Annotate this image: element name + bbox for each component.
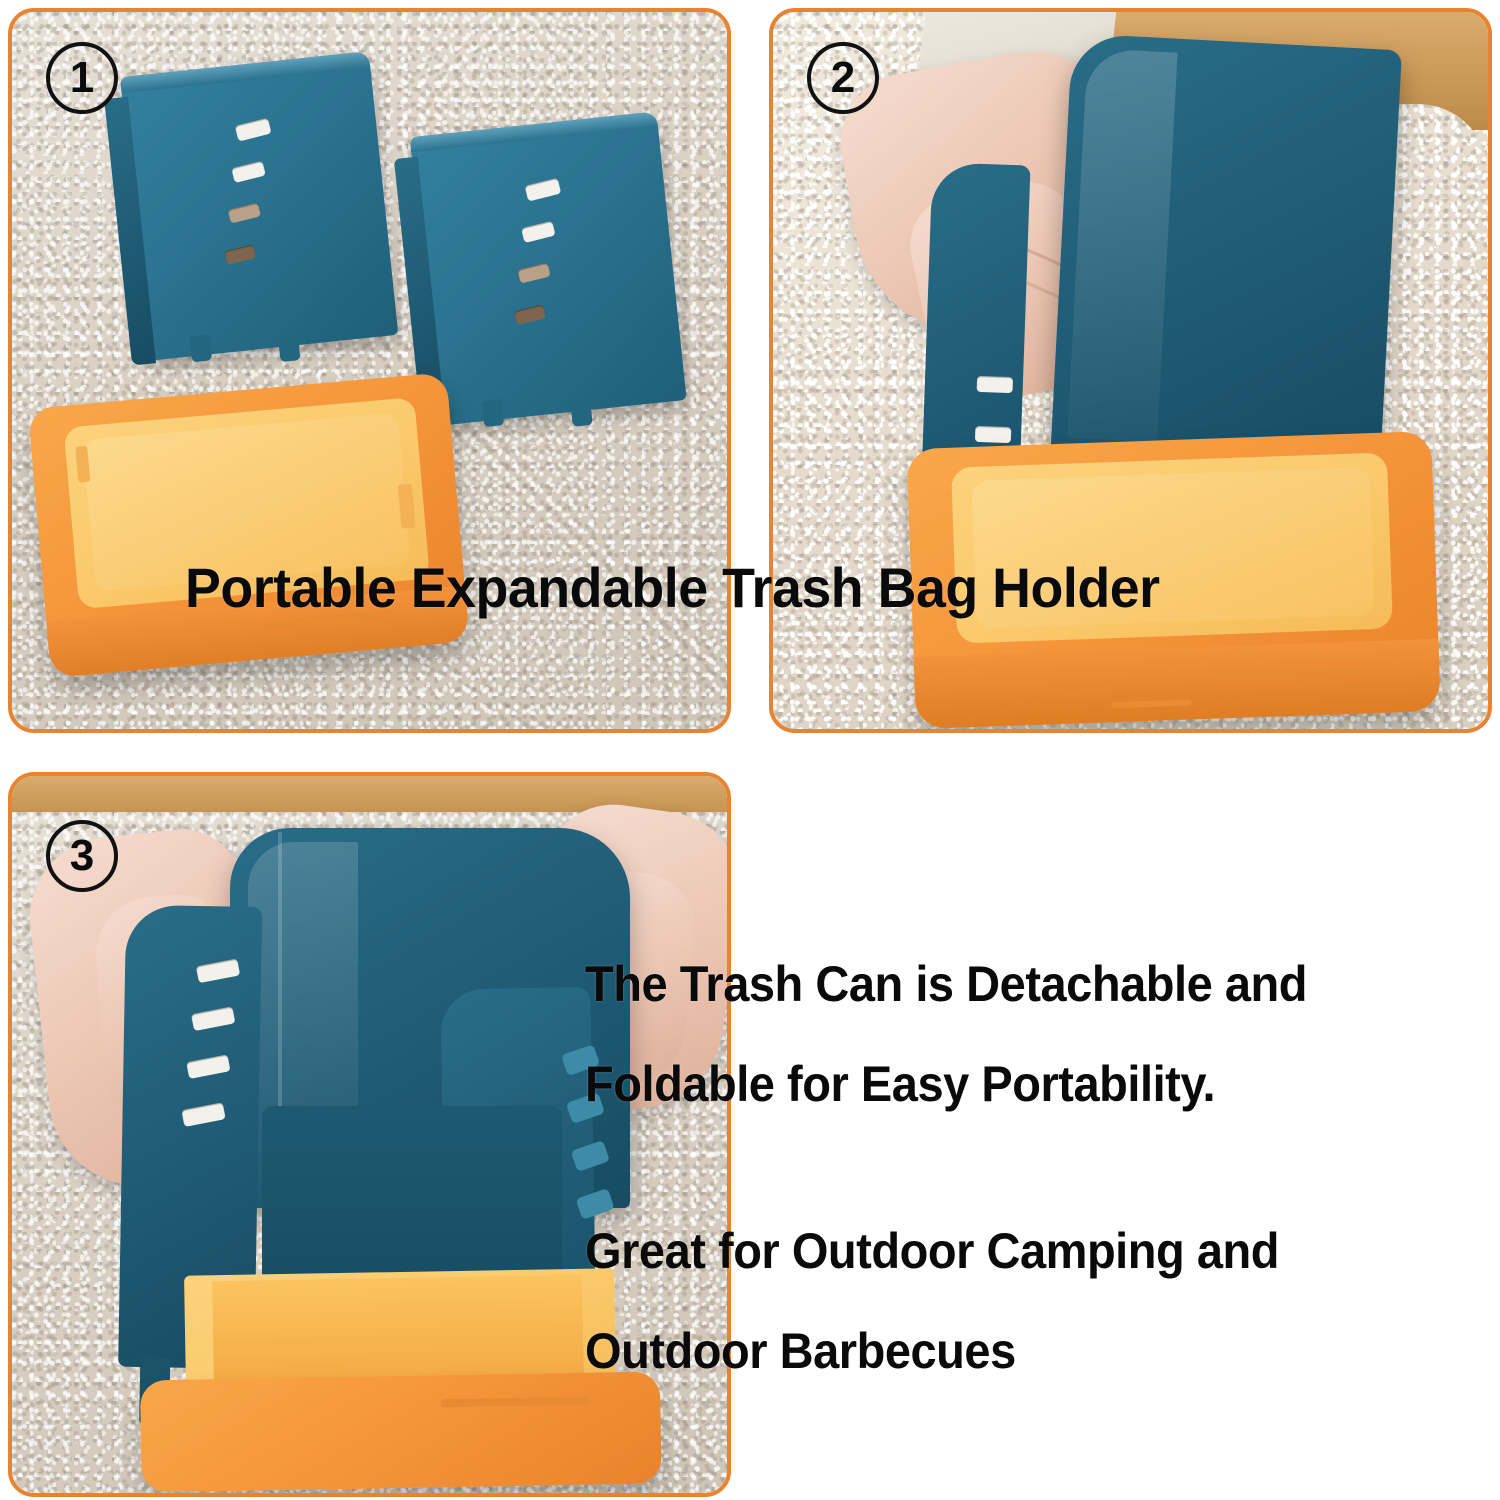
step-badge-3: 3 bbox=[46, 820, 118, 892]
step-number-1: 1 bbox=[70, 56, 94, 100]
step-number-2: 2 bbox=[831, 56, 855, 100]
feature-text-line-3: Great for Outdoor Camping and bbox=[585, 1222, 1279, 1280]
orange-base-tray bbox=[138, 1267, 662, 1493]
feature-text-line-2: Foldable for Easy Portability. bbox=[585, 1055, 1215, 1113]
step-number-3: 3 bbox=[70, 834, 94, 878]
headline-text: Portable Expandable Trash Bag Holder bbox=[185, 555, 1160, 620]
step-panel-2: 2 bbox=[769, 8, 1492, 733]
step-badge-2: 2 bbox=[807, 42, 879, 114]
feature-text-line-4: Outdoor Barbecues bbox=[585, 1322, 1016, 1380]
feature-text-line-1: The Trash Can is Detachable and bbox=[585, 955, 1307, 1013]
step-badge-1: 1 bbox=[46, 42, 118, 114]
step-panel-3: 3 bbox=[8, 772, 731, 1497]
step-3-photo bbox=[12, 776, 727, 1493]
teal-side-panel-left bbox=[102, 50, 407, 377]
orange-base-tray bbox=[28, 372, 473, 707]
infographic-canvas: 1 bbox=[0, 0, 1500, 1500]
step-1-photo bbox=[12, 12, 727, 729]
step-panel-1: 1 bbox=[8, 8, 731, 733]
step-2-photo bbox=[773, 12, 1488, 729]
